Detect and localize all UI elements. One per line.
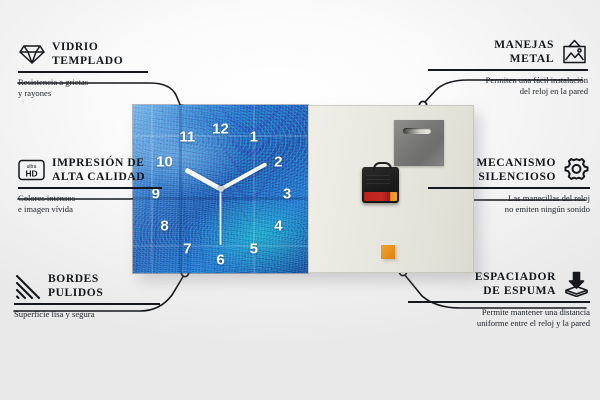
callout-subtitle-line2: del reloj en la pared [428, 86, 588, 98]
callout-subtitle-line1: Superficie lisa y segura [14, 309, 164, 321]
callout-title: IMPRESIÓN DE ALTA CALIDAD [52, 156, 145, 184]
polished-edge-icon [14, 273, 41, 300]
callout-subtitle-line2: uniforme entre el reloj y la pared [408, 318, 590, 330]
callout-subtitle-line2: y rayones [18, 88, 153, 100]
callout-subtitle-line1: Permite mantener una distancia [408, 307, 590, 319]
clock-numeral-4: 4 [274, 218, 282, 233]
callout-bordes-pulidos: BORDES PULIDOS Superficie lisa y segura [14, 272, 164, 320]
callout-header: VIDRIO TEMPLADO [18, 40, 153, 68]
callout-title: MECANISMO SILENCIOSO [476, 156, 556, 184]
callout-subtitle-line1: Colores intensos [18, 193, 168, 205]
callout-title: ESPACIADOR DE ESPUMA [475, 270, 556, 298]
callout-subtitle-line1: Permiten una fácil instalación [428, 75, 588, 87]
clock-numeral-1: 1 [250, 129, 258, 144]
callout-subtitle-line1: Las manecillas del reloj [428, 193, 590, 205]
picture-hanger-icon [561, 39, 588, 66]
mechanism-surface-detail [366, 175, 390, 187]
callout-impresion-alta-calidad: ultra HD IMPRESIÓN DE ALTA CALIDAD Color… [18, 156, 168, 216]
callout-manejas-metal: MANEJAS METAL Permiten una fácil instala… [428, 38, 588, 98]
foam-spacer-square [381, 245, 395, 259]
clock-second-hand [220, 189, 222, 245]
callout-vidrio-templado: VIDRIO TEMPLADO Resistencia a grietas y … [18, 40, 153, 100]
clock-numeral-8: 8 [160, 218, 168, 233]
callout-header: ESPACIADOR DE ESPUMA [408, 270, 590, 298]
callout-header: MECANISMO SILENCIOSO [428, 156, 590, 184]
callout-header: ultra HD IMPRESIÓN DE ALTA CALIDAD [18, 156, 168, 184]
clock-numeral-7: 7 [183, 242, 191, 257]
clock-mechanism-box [362, 167, 399, 203]
callout-rule [14, 303, 160, 305]
gear-icon [563, 157, 590, 184]
callout-rule [18, 187, 162, 189]
callout-header: MANEJAS METAL [428, 38, 588, 66]
clock-numeral-11: 11 [179, 129, 195, 144]
callout-mecanismo-silencioso: MECANISMO SILENCIOSO Las manecillas del … [428, 156, 590, 216]
callout-subtitle-line2: e imagen vívida [18, 204, 168, 216]
mechanism-label-strip [364, 192, 397, 201]
mechanism-hanging-loop [373, 162, 392, 172]
callout-rule [428, 69, 588, 71]
hanger-keyhole-slot [403, 128, 431, 134]
clock-numeral-3: 3 [283, 187, 291, 202]
callout-title: VIDRIO TEMPLADO [52, 40, 123, 68]
foam-spacer-icon [563, 271, 590, 298]
svg-text:HD: HD [25, 169, 37, 179]
callout-subtitle-line2: no emiten ningún sonido [428, 204, 590, 216]
clock-numeral-2: 2 [274, 155, 282, 170]
ultra-hd-icon: ultra HD [18, 157, 45, 184]
infographic-canvas: 12 1 2 3 4 5 6 7 8 9 10 11 [0, 0, 600, 400]
callout-header: BORDES PULIDOS [14, 272, 164, 300]
callout-espaciador-de-espuma: ESPACIADOR DE ESPUMA Permite mantener un… [408, 270, 590, 330]
callout-title: MANEJAS METAL [494, 38, 554, 66]
diamond-icon [18, 41, 45, 68]
callout-rule [428, 187, 590, 189]
clock-numeral-12: 12 [212, 121, 229, 136]
callout-subtitle-line1: Resistencia a grietas [18, 77, 153, 89]
callout-title: BORDES PULIDOS [48, 272, 103, 300]
clock-numeral-5: 5 [250, 242, 258, 257]
clock-center-cap [218, 186, 224, 192]
callout-rule [408, 301, 590, 303]
product-image: 12 1 2 3 4 5 6 7 8 9 10 11 [133, 105, 474, 273]
callout-rule [18, 71, 148, 73]
clock-numeral-6: 6 [216, 252, 224, 267]
